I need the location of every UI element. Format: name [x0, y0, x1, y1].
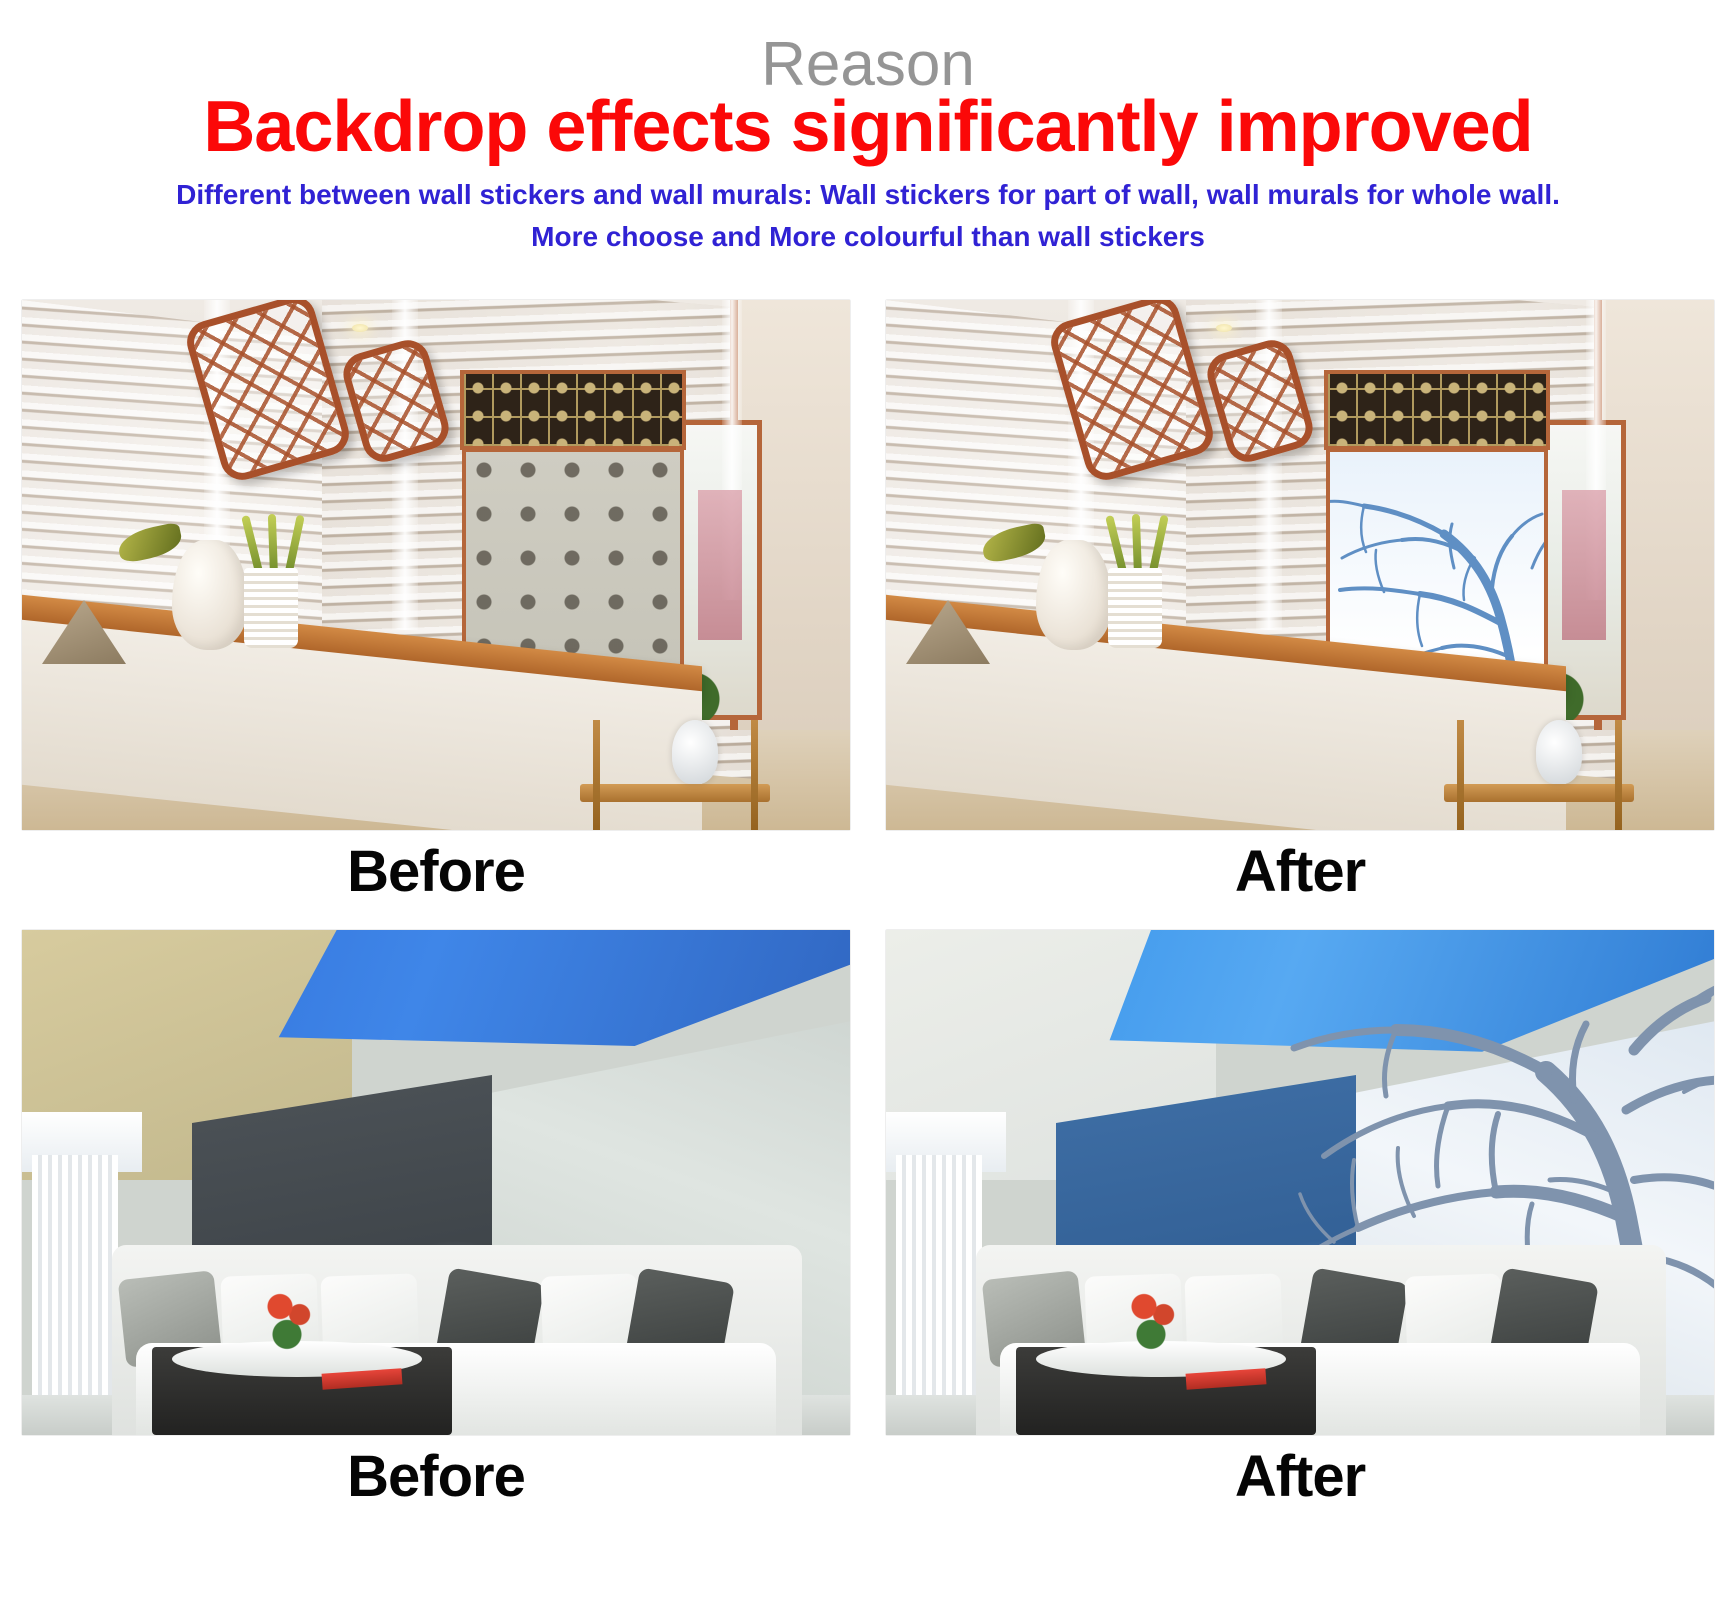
hallway-before-photo [22, 300, 850, 830]
ceiling-light-icon [1216, 324, 1232, 332]
table-lamp [672, 720, 718, 784]
plant-leaves [1114, 508, 1166, 576]
eyebrow-text: Reason [0, 34, 1736, 98]
lounge-after-photo [886, 930, 1714, 1435]
side-table-leg [1457, 720, 1464, 830]
white-vase [172, 540, 248, 650]
subtitle-line-1: Different between wall stickers and wall… [176, 179, 1560, 210]
plant-leaves [250, 508, 302, 576]
caption-after: After [886, 1435, 1714, 1513]
caption-before: Before [22, 1435, 850, 1513]
white-vase [1036, 540, 1112, 650]
carved-transom [460, 370, 686, 450]
page-title: Backdrop effects significantly improved [0, 88, 1736, 166]
side-table [1444, 784, 1634, 802]
side-table-leg [1615, 720, 1622, 830]
comparison-row-lounge: Before [0, 930, 1736, 1513]
ceiling-light-icon [352, 324, 368, 332]
side-table-leg [751, 720, 758, 830]
hallway-after-photo [886, 300, 1714, 830]
carved-transom [1324, 370, 1550, 450]
radiator [896, 1155, 982, 1435]
lounge-after-cell: After [886, 930, 1714, 1513]
hallway-before-cell: Before [22, 300, 850, 908]
hallway-after-cell: After [886, 300, 1714, 908]
caption-after: After [886, 830, 1714, 908]
radiator [32, 1155, 118, 1435]
hanging-fabric-art [698, 490, 742, 640]
ribbed-planter [244, 568, 298, 648]
subtitle-block: Different between wall stickers and wall… [0, 174, 1736, 258]
flower-vase [1116, 1291, 1186, 1353]
lounge-before-photo [22, 930, 850, 1435]
comparison-grid: Before [0, 300, 1736, 1513]
side-table-leg [593, 720, 600, 830]
comparison-row-hallway: Before [0, 300, 1736, 908]
caption-before: Before [22, 830, 850, 908]
page-header: Reason Backdrop effects significantly im… [0, 0, 1736, 258]
subtitle-line-2: More choose and More colourful than wall… [0, 216, 1736, 258]
table-lamp [1536, 720, 1582, 784]
ribbed-planter [1108, 568, 1162, 648]
flower-vase [252, 1291, 322, 1353]
side-table [580, 784, 770, 802]
hanging-fabric-art [1562, 490, 1606, 640]
lounge-before-cell: Before [22, 930, 850, 1513]
